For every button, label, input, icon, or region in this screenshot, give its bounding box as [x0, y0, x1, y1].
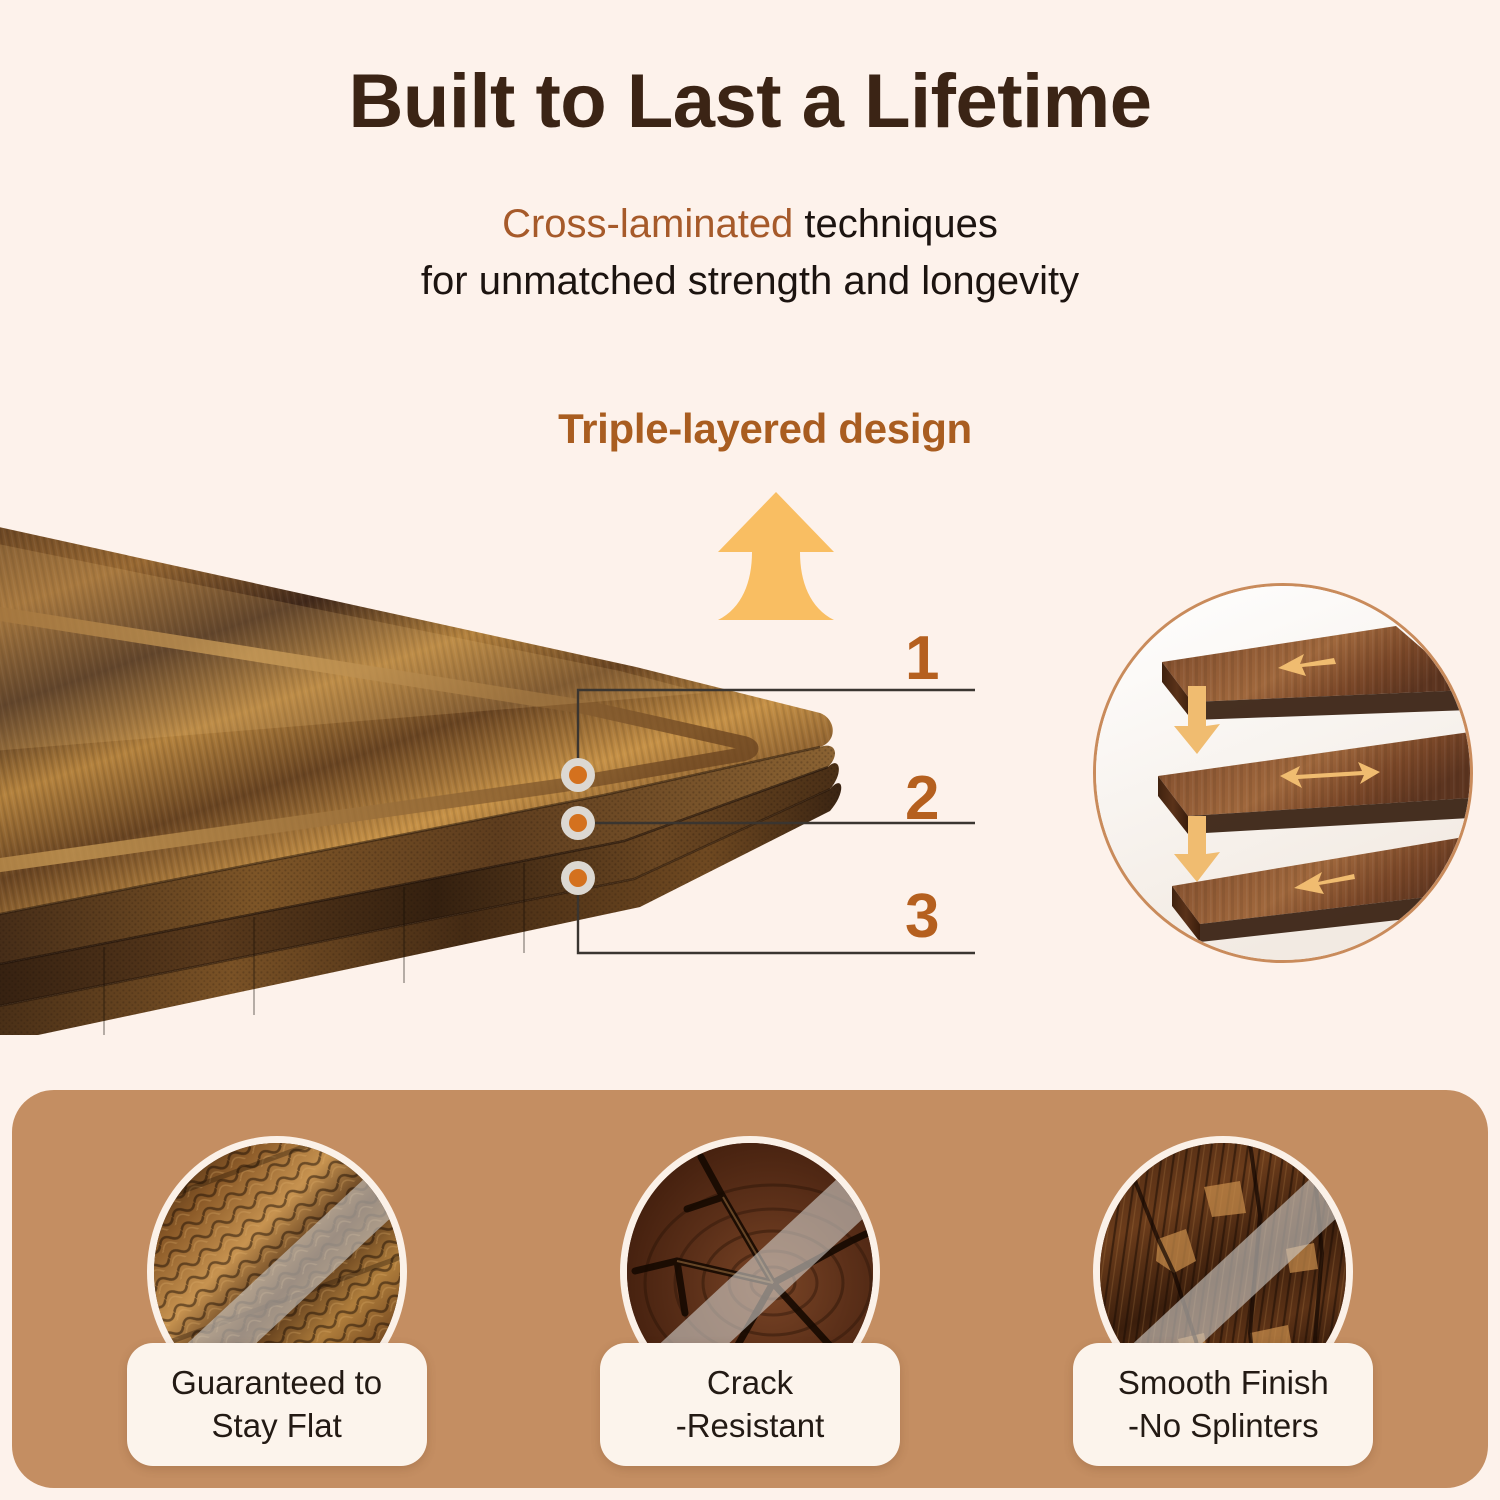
feature-card-stay-flat[interactable]: Guaranteed to Stay Flat [77, 1118, 477, 1488]
subtitle: Cross-laminated techniques for unmatched… [0, 196, 1500, 310]
feature-label-stay-flat: Guaranteed to Stay Flat [127, 1343, 427, 1466]
subtitle-line-2: for unmatched strength and longevity [0, 253, 1500, 310]
page-title: Built to Last a Lifetime [0, 62, 1500, 142]
feature-label-line1: Crack [707, 1364, 793, 1401]
feature-card-smooth-finish[interactable]: Smooth Finish -No Splinters [1023, 1118, 1423, 1488]
feature-label-smooth-finish: Smooth Finish -No Splinters [1073, 1343, 1373, 1466]
subtitle-highlight: Cross-laminated [502, 202, 793, 246]
infographic-root: Built to Last a Lifetime Cross-laminated… [0, 0, 1500, 1500]
feature-label-line1: Guaranteed to [171, 1364, 382, 1401]
cross-lamination-diagram [1093, 583, 1473, 963]
callout-number-3: 3 [905, 886, 939, 948]
callout-number-1: 1 [905, 628, 939, 690]
triple-layer-heading: Triple-layered design [455, 405, 1075, 453]
feature-label-line2: -Resistant [626, 1404, 874, 1448]
subtitle-rest: techniques [793, 202, 998, 246]
bamboo-board-photo [0, 455, 844, 1035]
subtitle-line-1: Cross-laminated techniques [0, 196, 1500, 253]
feature-label-crack-resistant: Crack -Resistant [600, 1343, 900, 1466]
feature-label-line1: Smooth Finish [1118, 1364, 1329, 1401]
feature-label-line2: -No Splinters [1099, 1404, 1347, 1448]
feature-card-crack-resistant[interactable]: Crack -Resistant [550, 1118, 950, 1488]
features-panel: Guaranteed to Stay Flat [12, 1090, 1488, 1488]
callout-number-2: 2 [905, 768, 939, 830]
features-row: Guaranteed to Stay Flat [12, 1090, 1488, 1488]
feature-label-line2: Stay Flat [153, 1404, 401, 1448]
